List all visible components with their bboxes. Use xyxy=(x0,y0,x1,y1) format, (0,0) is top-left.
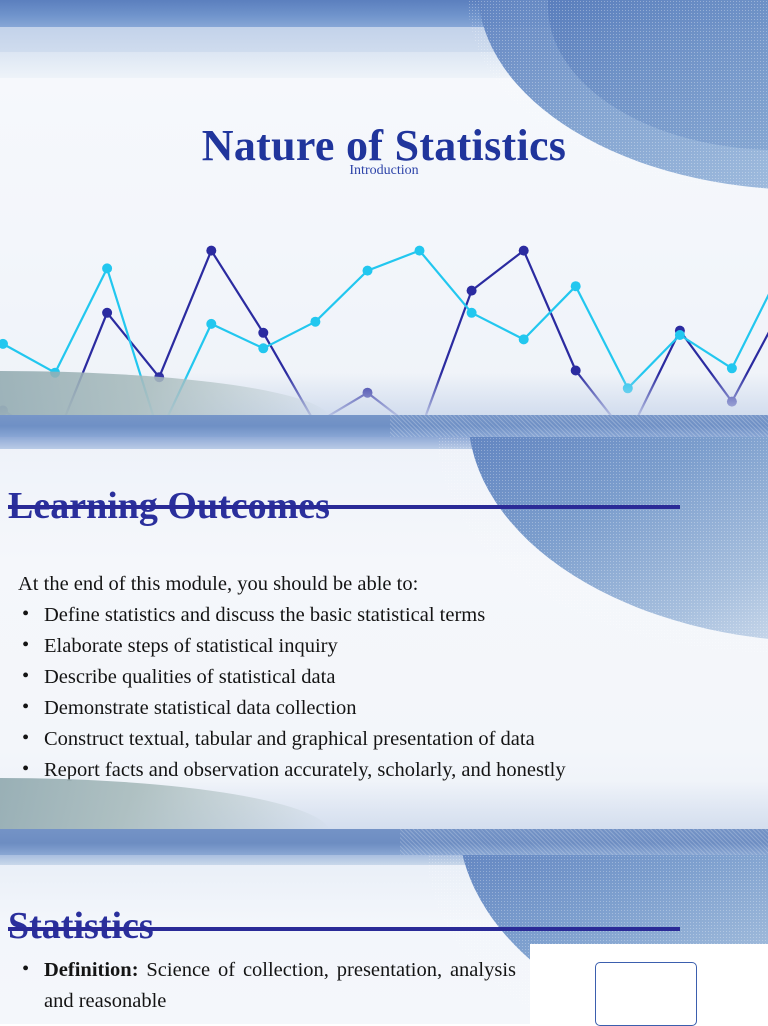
bullet-icon: • xyxy=(22,630,29,661)
bullet-icon: • xyxy=(22,954,29,985)
definition-label: Definition: xyxy=(44,959,139,981)
chart-data-point xyxy=(258,328,268,338)
outcomes-body: At the end of this module, you should be… xyxy=(18,569,738,786)
list-item-label: Demonstrate statistical data collection xyxy=(44,697,357,719)
footer-band-texture xyxy=(400,829,768,855)
heading-underline xyxy=(8,505,680,509)
slide-deck: Nature of Statistics Introduction Learni… xyxy=(0,0,768,1024)
bullet-icon: • xyxy=(22,723,29,754)
outcomes-list: •Define statistics and discuss the basic… xyxy=(18,600,738,786)
chart-data-point xyxy=(415,246,425,256)
list-item-label: Construct textual, tabular and graphical… xyxy=(44,728,535,750)
chart-data-point xyxy=(102,263,112,273)
slide-learning-outcomes: Learning Outcomes At the end of this mod… xyxy=(0,437,768,855)
list-item-label: Describe qualities of statistical data xyxy=(44,666,335,688)
chart-data-point xyxy=(467,286,477,296)
chart-data-point xyxy=(571,281,581,291)
chart-data-point xyxy=(102,308,112,318)
chart-data-point xyxy=(258,343,268,353)
list-item: •Construct textual, tabular and graphica… xyxy=(18,724,738,755)
list-item: •Elaborate steps of statistical inquiry xyxy=(18,631,738,662)
chart-data-point xyxy=(727,363,737,373)
chart-data-point xyxy=(675,330,685,340)
bullet-icon: • xyxy=(22,692,29,723)
list-item: •Define statistics and discuss the basic… xyxy=(18,600,738,631)
chart-data-point xyxy=(519,246,529,256)
footer-band-texture xyxy=(390,415,768,437)
chart-data-point xyxy=(0,339,8,349)
list-item: •Describe qualities of statistical data xyxy=(18,662,738,693)
list-item-label: Elaborate steps of statistical inquiry xyxy=(44,635,338,657)
heading-underline xyxy=(8,927,680,931)
chart-data-point xyxy=(467,308,477,318)
chart-data-point xyxy=(519,334,529,344)
list-item: •Demonstrate statistical data collection xyxy=(18,693,738,724)
slide-heading: Statistics xyxy=(8,907,154,945)
bullet-icon: • xyxy=(22,661,29,692)
outcomes-lead: At the end of this module, you should be… xyxy=(18,569,738,600)
line-chart xyxy=(0,0,768,437)
list-item-label: Define statistics and discuss the basic … xyxy=(44,604,485,626)
chart-data-point xyxy=(206,246,216,256)
chart-data-point xyxy=(206,319,216,329)
slide-title: Nature of Statistics Introduction xyxy=(0,0,768,437)
statistics-body: •Definition: Science of collection, pres… xyxy=(18,955,516,1017)
definition-item: •Definition: Science of collection, pres… xyxy=(18,955,516,1017)
list-item-label: Report facts and observation accurately,… xyxy=(44,759,566,781)
image-placeholder-box xyxy=(595,962,697,1026)
chart-data-point xyxy=(310,317,320,327)
chart-data-point xyxy=(363,266,373,276)
bullet-icon: • xyxy=(22,599,29,630)
